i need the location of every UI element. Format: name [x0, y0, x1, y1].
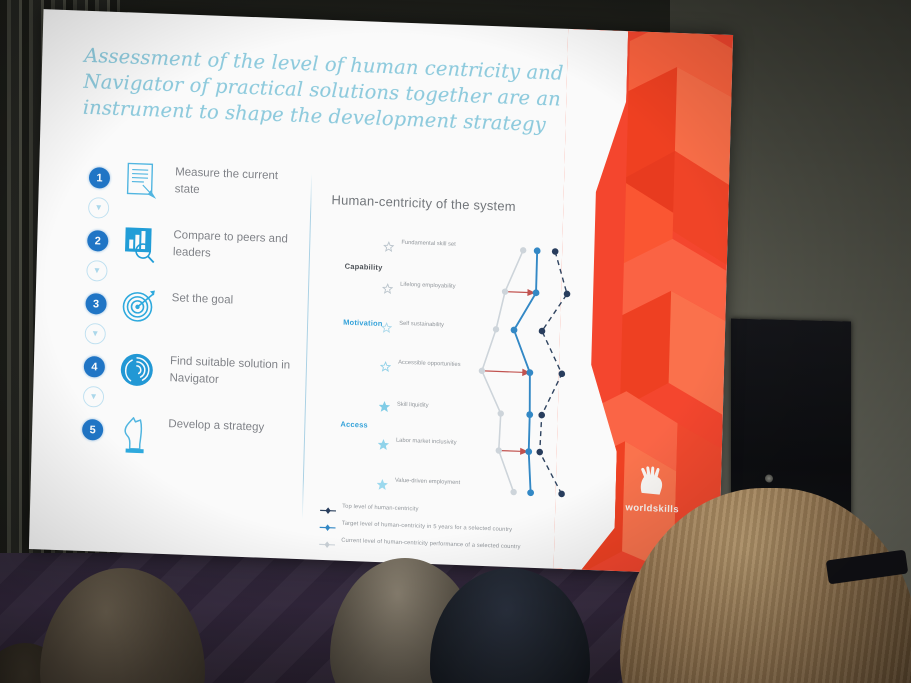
star-icon — [380, 361, 391, 372]
process-steps-list: 1 ▾ Measure the current state 2 ▾ — [77, 159, 295, 482]
step-item-1[interactable]: 1 ▾ Measure the current state — [84, 159, 296, 230]
chart-group-label-capability: Capability — [345, 262, 383, 272]
chart-dimension-label: Labor market inclusivity — [396, 438, 466, 448]
chevron-down-icon: ▾ — [83, 386, 105, 408]
chart-legend: Top level of human-centricity Target lev… — [319, 502, 610, 564]
legend-marker-icon — [319, 540, 335, 550]
human-centricity-chart: Capability Motivation Access Fundamental… — [320, 225, 587, 515]
chart-dimension-label: Lifelong employability — [400, 282, 470, 292]
chart-heading: Human-centricity of the system — [331, 192, 516, 214]
target-dart-icon — [119, 286, 160, 329]
step-number-4: 4 — [84, 356, 106, 378]
step-label-2: Compare to peers and leaders — [173, 227, 299, 265]
step-item-2[interactable]: 2 ▾ Compare to peers and leaders — [82, 222, 294, 293]
conference-room-background: worldskills Assessment of the level of h… — [0, 0, 911, 683]
star-icon — [382, 283, 393, 294]
step-item-3[interactable]: 3 ▾ Set the goal — [80, 285, 292, 356]
legend-marker-icon — [320, 506, 336, 516]
star-icon — [378, 439, 389, 450]
step-number-5: 5 — [82, 419, 104, 441]
document-report-icon — [122, 160, 163, 203]
step-number-2: 2 — [87, 230, 109, 252]
step-label-5: Develop a strategy — [168, 416, 293, 437]
step-number-3: 3 — [85, 293, 107, 315]
chart-plot-area — [470, 231, 588, 515]
speaker-led-icon — [765, 474, 773, 482]
fingerprint-icon — [117, 349, 158, 392]
presentation-slide: worldskills Assessment of the level of h… — [29, 9, 733, 575]
star-icon — [377, 479, 388, 490]
chart-dimension-label: Accessible opportunities — [398, 360, 468, 370]
star-icon — [383, 241, 394, 252]
chevron-down-icon: ▾ — [88, 197, 110, 219]
legend-label: Top level of human-centricity — [342, 504, 418, 513]
step-item-4[interactable]: 4 ▾ Find suitable solution in Navigator — [79, 348, 291, 419]
step-label-3: Set the goal — [172, 290, 297, 311]
step-item-5[interactable]: 5 Develop a strategy — [77, 411, 289, 482]
worldskills-hand-icon — [636, 465, 671, 496]
chess-knight-icon — [116, 412, 157, 455]
slide-title: Assessment of the level of human centric… — [83, 43, 565, 139]
bar-chart-magnifier-icon — [121, 223, 162, 266]
chevron-down-icon: ▾ — [84, 323, 106, 345]
star-icon — [381, 322, 392, 333]
step-label-1: Measure the current state — [174, 164, 300, 202]
chart-group-label-access: Access — [340, 420, 368, 430]
worldskills-logo: worldskills — [607, 464, 698, 516]
legend-marker-icon — [319, 523, 335, 533]
chart-dimension-label: Value-driven employment — [395, 478, 465, 488]
step-label-4: Find suitable solution in Navigator — [169, 353, 295, 391]
chevron-down-icon: ▾ — [86, 260, 108, 282]
chart-dimension-label: Self sustainability — [399, 321, 469, 331]
chart-series-svg — [470, 231, 588, 515]
step-number-1: 1 — [89, 167, 111, 189]
column-divider — [302, 171, 312, 521]
projection-screen: worldskills Assessment of the level of h… — [29, 9, 733, 575]
chart-dimension-label: Fundamental skill set — [401, 240, 471, 250]
star-icon — [379, 401, 390, 412]
chart-group-label-motivation: Motivation — [343, 318, 383, 328]
chart-dimension-label: Skill liquidity — [397, 402, 467, 412]
